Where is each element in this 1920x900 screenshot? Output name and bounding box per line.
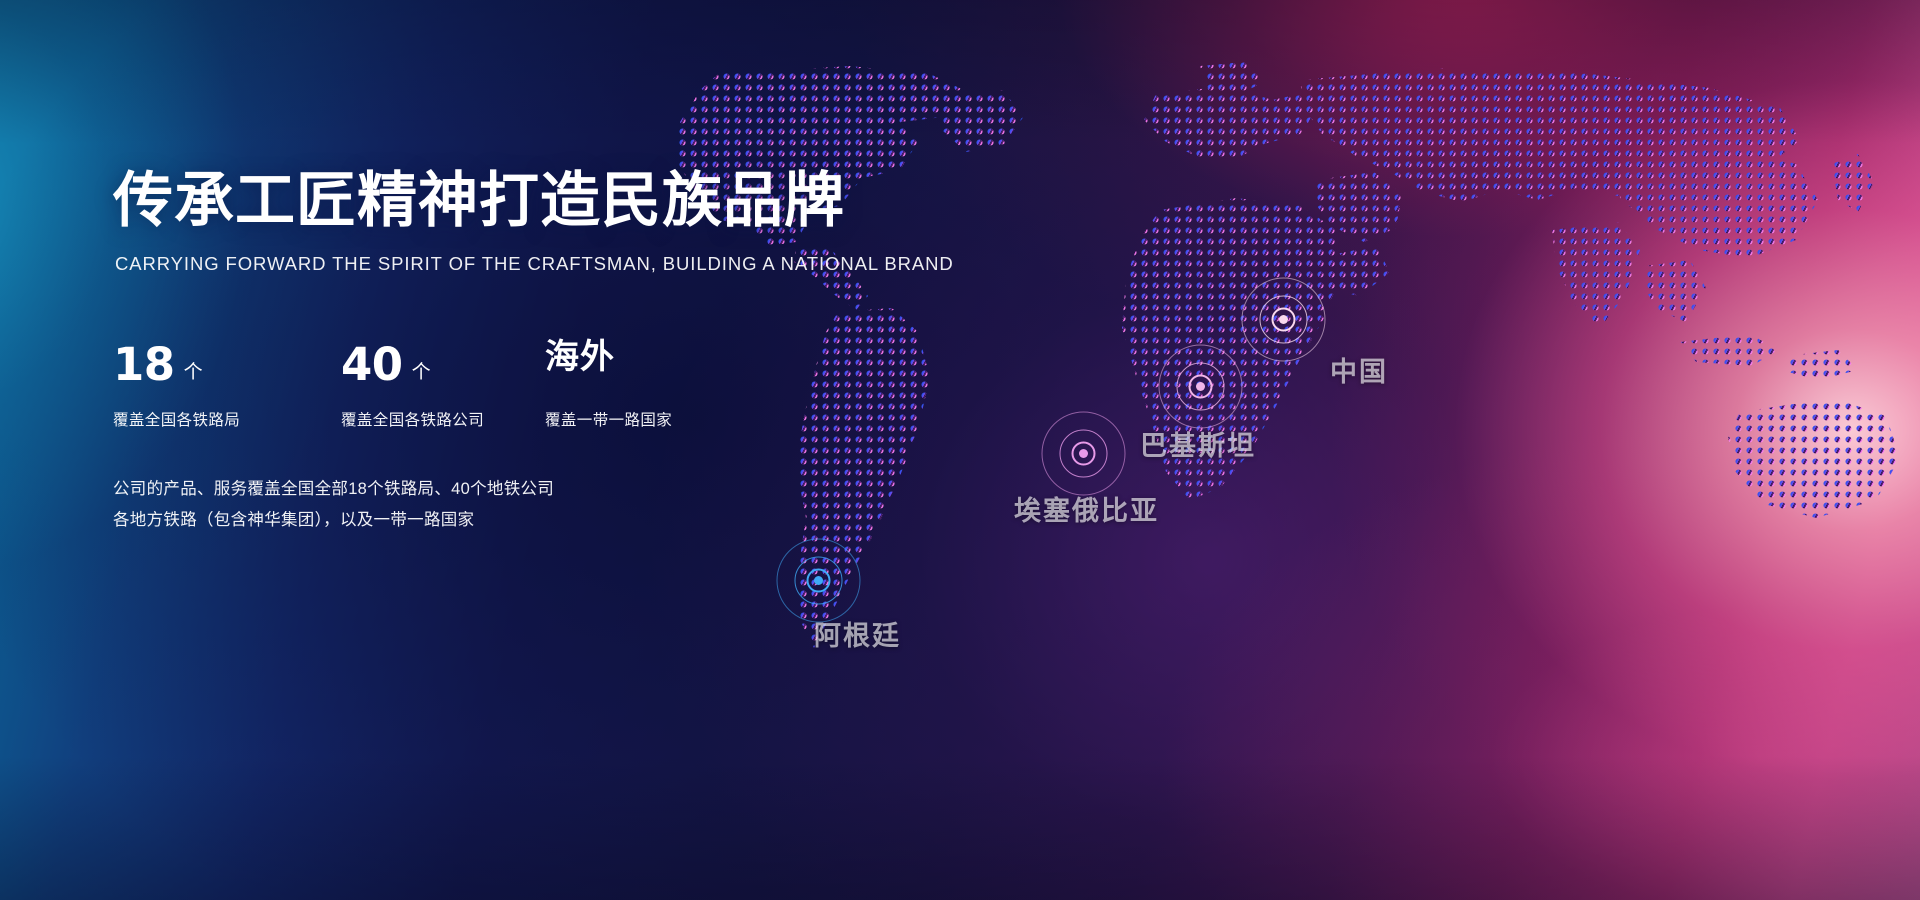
stat-value: 海外 <box>545 340 615 374</box>
continent-shape <box>1680 334 1778 366</box>
continent-shape <box>1644 260 1706 322</box>
content-panel: 传承工匠精神打造民族品牌 CARRYING FORWARD THE SPIRIT… <box>113 0 893 900</box>
marker-center-dot <box>1196 382 1205 391</box>
description-line-2: 各地方铁路（包含神华集团），以及一带一路国家 <box>113 505 554 536</box>
stat-item-railway-bureaus: 18 个 覆盖全国各铁路局 <box>113 342 341 430</box>
page-title: 传承工匠精神打造民族品牌 <box>113 168 845 235</box>
stat-unit: 个 <box>184 357 203 384</box>
marker-center-dot <box>1079 449 1088 458</box>
continent-shape <box>1552 222 1640 328</box>
continent-shape <box>1728 398 1900 518</box>
continent-shape <box>1144 86 1316 162</box>
stat-caption: 覆盖全国各铁路局 <box>113 408 341 430</box>
banner-stage: 中国巴基斯坦埃塞俄比亚阿根廷 传承工匠精神打造民族品牌 CARRYING FOR… <box>0 0 1920 900</box>
page-subtitle: CARRYING FORWARD THE SPIRIT OF THE CRAFT… <box>115 253 954 275</box>
map-marker-label-1: 巴基斯坦 <box>1140 424 1256 463</box>
stat-caption: 覆盖全国各铁路公司 <box>341 408 545 430</box>
description-text: 公司的产品、服务覆盖全国全部18个铁路局、40个地铁公司 各地方铁路（包含神华集… <box>113 474 554 536</box>
continent-shape <box>1832 154 1874 212</box>
map-marker-1[interactable] <box>1200 386 1201 387</box>
stat-item-railway-companies: 40 个 覆盖全国各铁路公司 <box>341 342 545 430</box>
map-marker-0[interactable] <box>1283 319 1284 320</box>
stat-unit: 个 <box>412 357 431 384</box>
stat-value-row: 海外 <box>545 342 765 394</box>
marker-center-dot <box>1279 315 1288 324</box>
description-line-1: 公司的产品、服务覆盖全国全部18个铁路局、40个地铁公司 <box>113 474 554 505</box>
continent-shape <box>1786 350 1858 380</box>
continent-shape <box>938 90 1024 152</box>
stat-value-row: 40 个 <box>341 342 545 394</box>
stats-row: 18 个 覆盖全国各铁路局 40 个 覆盖全国各铁路公司 海外 覆盖一带一路国家 <box>113 342 765 430</box>
map-marker-label-2: 埃塞俄比亚 <box>1014 489 1159 528</box>
map-marker-2[interactable] <box>1083 453 1084 454</box>
continent-shape <box>1618 146 1818 258</box>
stat-value-row: 18 个 <box>113 342 341 394</box>
stat-value: 18 <box>113 342 175 387</box>
map-marker-label-0: 中国 <box>1330 350 1388 389</box>
stat-value: 40 <box>341 342 403 387</box>
stat-caption: 覆盖一带一路国家 <box>545 408 765 430</box>
stat-item-overseas: 海外 覆盖一带一路国家 <box>545 342 765 430</box>
